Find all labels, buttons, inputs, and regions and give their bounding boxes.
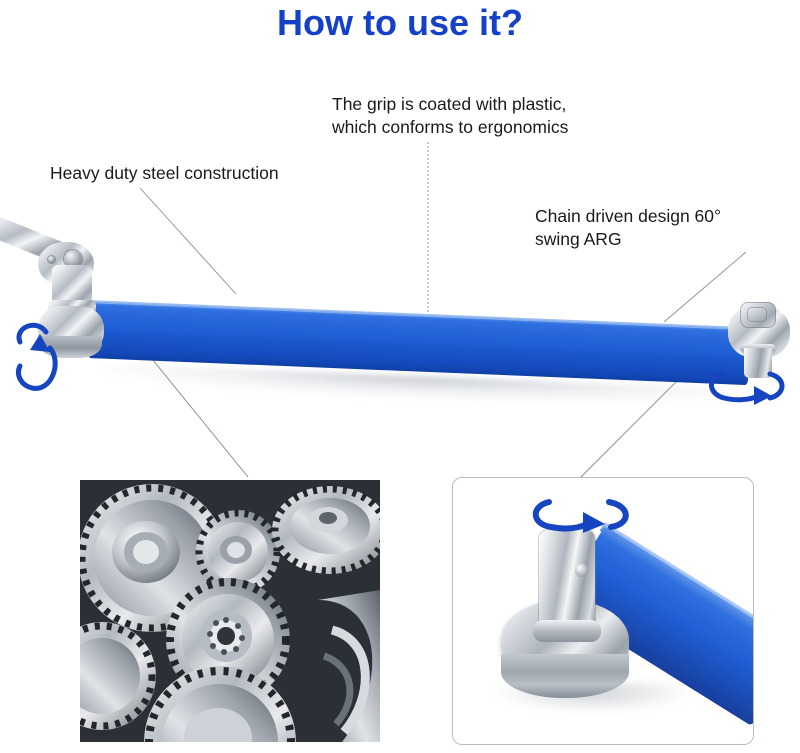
annotation-grip: The grip is coated with plastic, which c… [332, 93, 568, 139]
gear-photo-art [80, 480, 380, 742]
square-drive-closeup-inset [452, 477, 754, 745]
drive-cap-inner [748, 308, 766, 321]
rotation-arrow-inset-icon [527, 494, 637, 534]
infographic-page: How to use it? The grip is coated with p… [0, 0, 800, 753]
inset-detent-ball [575, 564, 588, 577]
inset-drive-collar [533, 620, 601, 642]
gear-mechanism-photo [80, 480, 380, 742]
rotation-arrow-left-icon [6, 300, 66, 400]
annotation-steel: Heavy duty steel construction [50, 162, 279, 185]
product-image [0, 240, 800, 420]
ratchet-rivet [48, 256, 55, 263]
rotation-arrow-right-icon [706, 364, 790, 408]
